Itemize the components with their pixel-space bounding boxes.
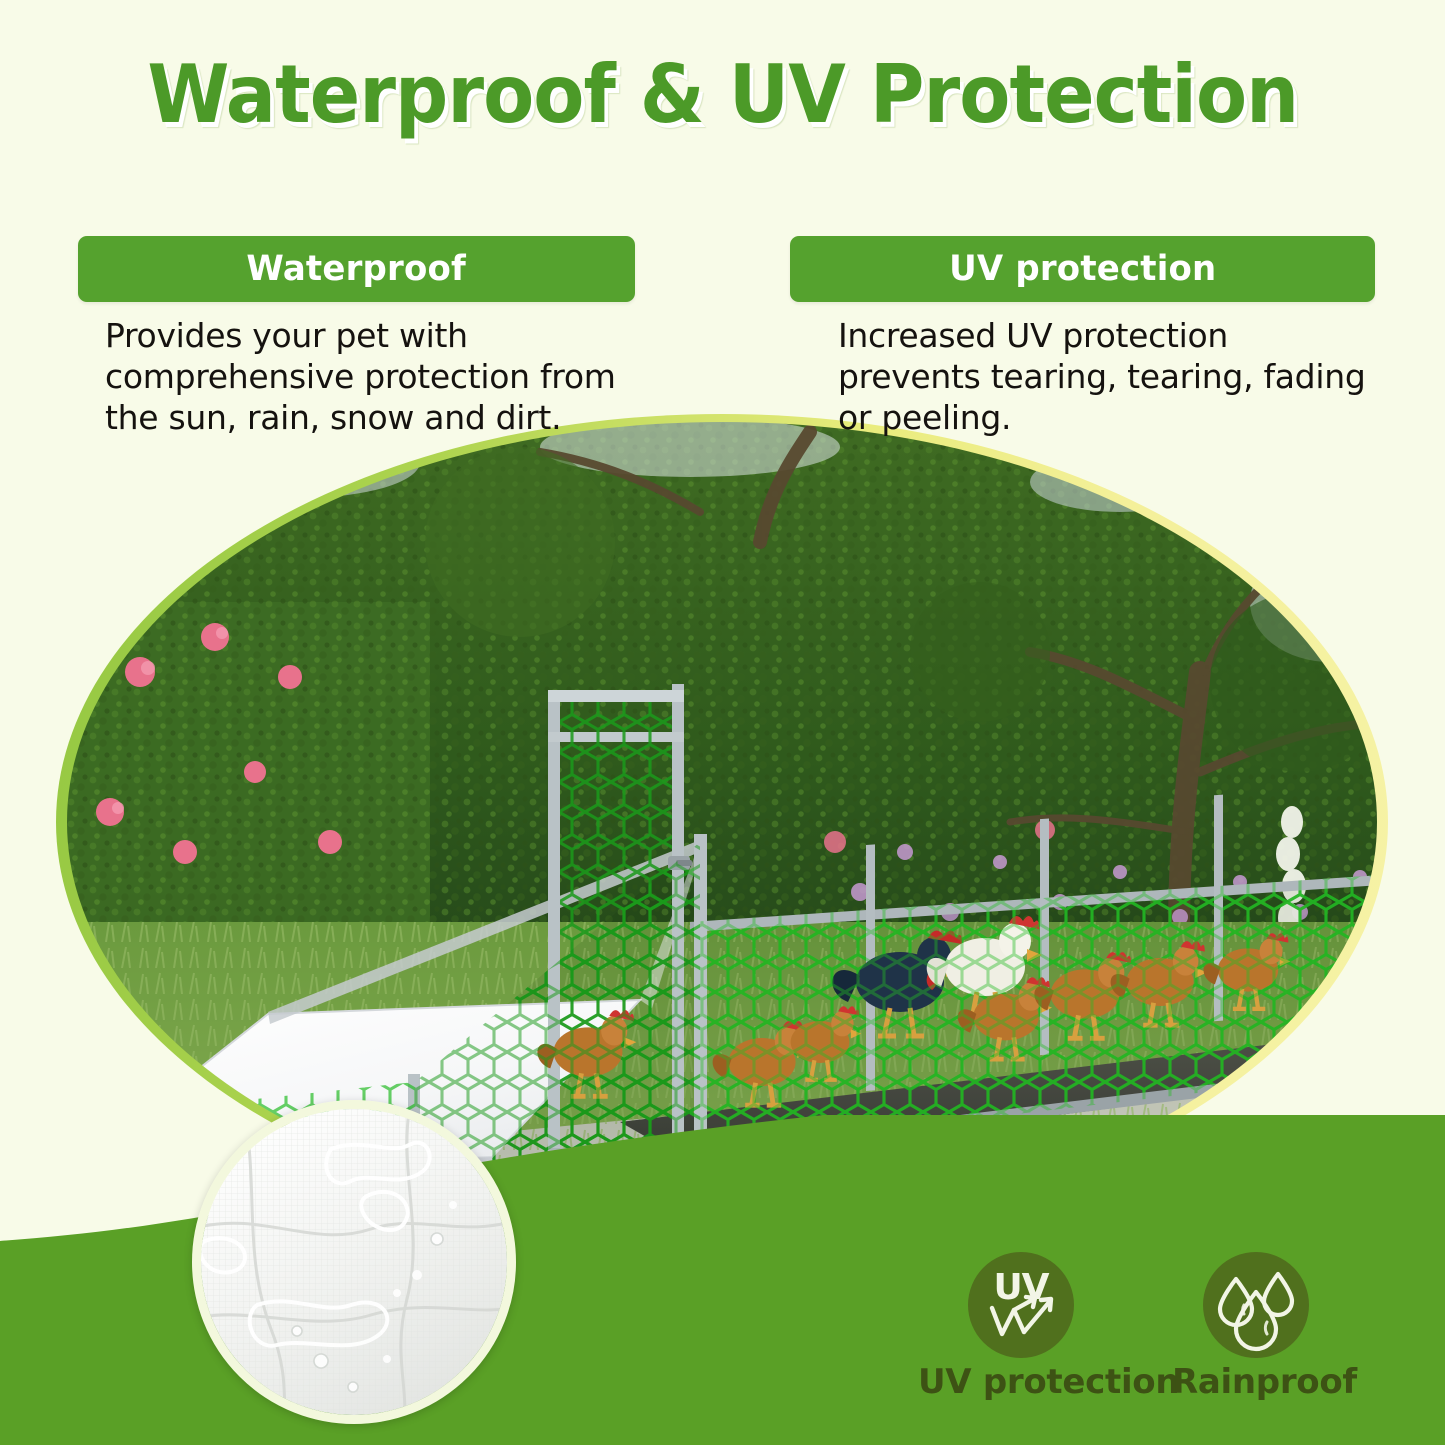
uv-glyph: UV xyxy=(968,1252,1074,1358)
badge-uv-protection-label: UV protection xyxy=(949,249,1216,289)
uv-protection-label: UV protection xyxy=(918,1362,1179,1402)
feature-uv-description: Increased UV protection prevents tearing… xyxy=(838,315,1368,438)
droplets-glyph xyxy=(1203,1252,1309,1358)
rainproof-droplets-icon xyxy=(1203,1252,1309,1358)
waterproof-fabric-inset xyxy=(192,1100,516,1424)
rainproof-label: Rainproof xyxy=(1172,1362,1357,1402)
infographic-canvas: Waterproof & UV Protection xyxy=(0,0,1445,1445)
page-title: Waterproof & UV Protection xyxy=(147,55,1298,135)
feature-waterproof-description: Provides your pet with comprehensive pro… xyxy=(105,315,625,438)
page-title-area: Waterproof & UV Protection xyxy=(0,55,1445,135)
badge-waterproof-label: Waterproof xyxy=(247,249,467,289)
product-photo xyxy=(0,422,1445,1222)
uv-protection-icon: UV xyxy=(968,1252,1074,1358)
fabric-water-beading-illustration xyxy=(201,1109,507,1415)
coop-scene-illustration xyxy=(0,422,1445,1222)
badge-uv-protection[interactable]: UV protection xyxy=(790,236,1375,302)
badge-waterproof[interactable]: Waterproof xyxy=(78,236,635,302)
